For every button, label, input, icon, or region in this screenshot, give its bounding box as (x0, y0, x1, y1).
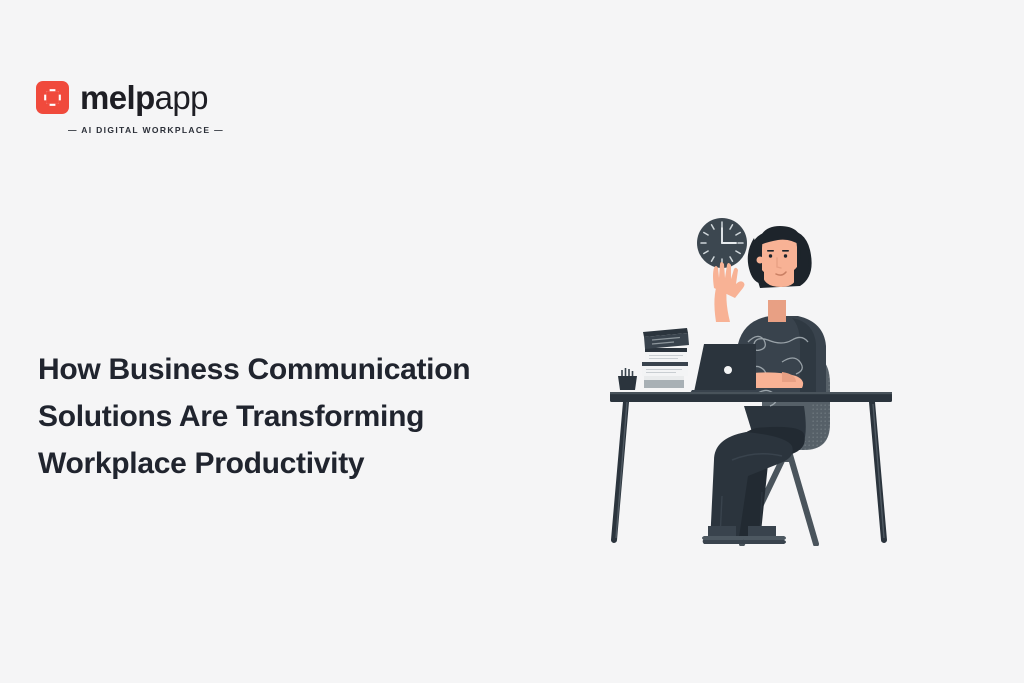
blog-banner: melpapp — AI DIGITAL WORKPLACE — How Bus… (0, 0, 1024, 683)
logo-word-secondary: app (155, 79, 208, 116)
logo-row: melpapp (36, 76, 236, 118)
headline-line-1: How Business Communication (38, 346, 558, 393)
logo-wordmark: melpapp (80, 81, 208, 114)
headline-line-3: Workplace Productivity (38, 440, 558, 487)
person-legs (710, 406, 806, 544)
wall-clock-icon (697, 218, 747, 268)
melp-square-icon (36, 81, 69, 114)
brand-logo[interactable]: melpapp — AI DIGITAL WORKPLACE — (36, 76, 236, 142)
logo-tagline: — AI DIGITAL WORKPLACE — (68, 125, 236, 135)
pen-cup-icon (618, 368, 637, 390)
hero-illustration (596, 196, 906, 546)
page-title: How Business Communication Solutions Are… (38, 346, 558, 487)
person-waving-arm (713, 262, 745, 322)
person-head (748, 226, 812, 322)
book-stack (642, 328, 689, 388)
headline-line-2: Solutions Are Transforming (38, 393, 558, 440)
logo-word-primary: melp (80, 79, 155, 116)
laptop (688, 344, 760, 396)
